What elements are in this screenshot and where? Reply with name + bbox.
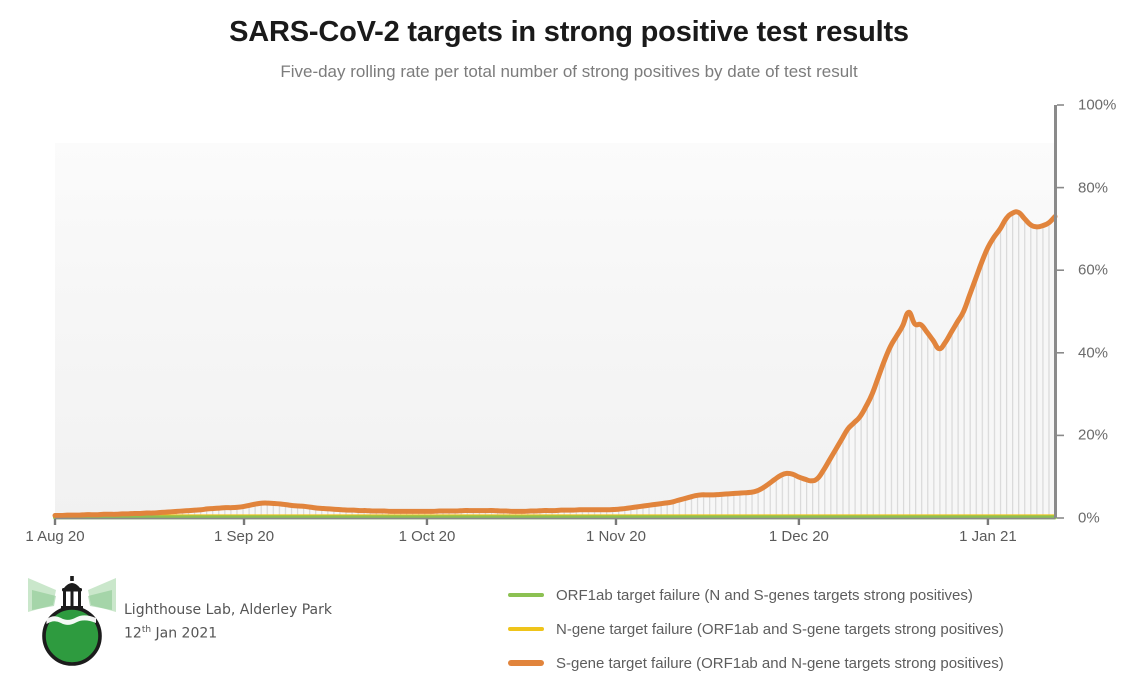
y-axis-tick-label: 0% — [1078, 510, 1100, 527]
sgene-area-fill — [55, 212, 1055, 518]
attribution-date: 12th Jan 2021 — [124, 620, 332, 644]
chart-legend: ORF1ab target failure (N and S-genes tar… — [508, 578, 1004, 680]
y-axis-tick-label: 60% — [1078, 262, 1108, 279]
x-axis-tick-label: 1 Jan 21 — [959, 528, 1017, 545]
legend-item-ngene[interactable]: N-gene target failure (ORF1ab and S-gene… — [508, 612, 1004, 646]
x-axis-tick-label: 1 Oct 20 — [399, 528, 456, 545]
legend-label-ngene: N-gene target failure (ORF1ab and S-gene… — [556, 621, 1004, 638]
logo-flask — [44, 608, 100, 664]
x-axis-tick-label: 1 Dec 20 — [769, 528, 829, 545]
attribution-org: Lighthouse Lab, Alderley Park — [124, 600, 332, 620]
legend-item-sgene[interactable]: S-gene target failure (ORF1ab and N-gene… — [508, 646, 1004, 680]
legend-label-orf1ab: ORF1ab target failure (N and S-genes tar… — [556, 587, 973, 604]
legend-swatch-orf1ab — [508, 593, 544, 597]
y-axis-tick-label: 80% — [1078, 179, 1108, 196]
legend-label-sgene: S-gene target failure (ORF1ab and N-gene… — [556, 655, 1004, 672]
x-axis-tick-label: 1 Aug 20 — [25, 528, 84, 545]
legend-swatch-ngene — [508, 627, 544, 631]
chart-figure: SARS-CoV-2 targets in strong positive te… — [0, 0, 1138, 688]
chart-svg — [0, 0, 1138, 560]
plot-area: 0%20%40%60%80%100% 1 Aug 201 Sep 201 Oct… — [0, 0, 1138, 560]
attribution-text: Lighthouse Lab, Alderley Park 12th Jan 2… — [124, 600, 332, 644]
lighthouse-lab-logo — [26, 572, 118, 670]
x-axis-tick-label: 1 Sep 20 — [214, 528, 274, 545]
legend-swatch-sgene — [508, 660, 544, 666]
attribution-date-rest: Jan 2021 — [151, 626, 217, 642]
y-axis-tick-label: 40% — [1078, 344, 1108, 361]
attribution-date-suffix: th — [142, 625, 151, 635]
y-axis-tick-label: 20% — [1078, 427, 1108, 444]
x-axis-tick-label: 1 Nov 20 — [586, 528, 646, 545]
y-axis-tick-label: 100% — [1078, 97, 1116, 114]
attribution-date-day: 12 — [124, 626, 142, 642]
logo-lamp-top — [61, 576, 83, 610]
legend-item-orf1ab[interactable]: ORF1ab target failure (N and S-genes tar… — [508, 578, 1004, 612]
chart-footer: Lighthouse Lab, Alderley Park 12th Jan 2… — [0, 560, 1138, 688]
